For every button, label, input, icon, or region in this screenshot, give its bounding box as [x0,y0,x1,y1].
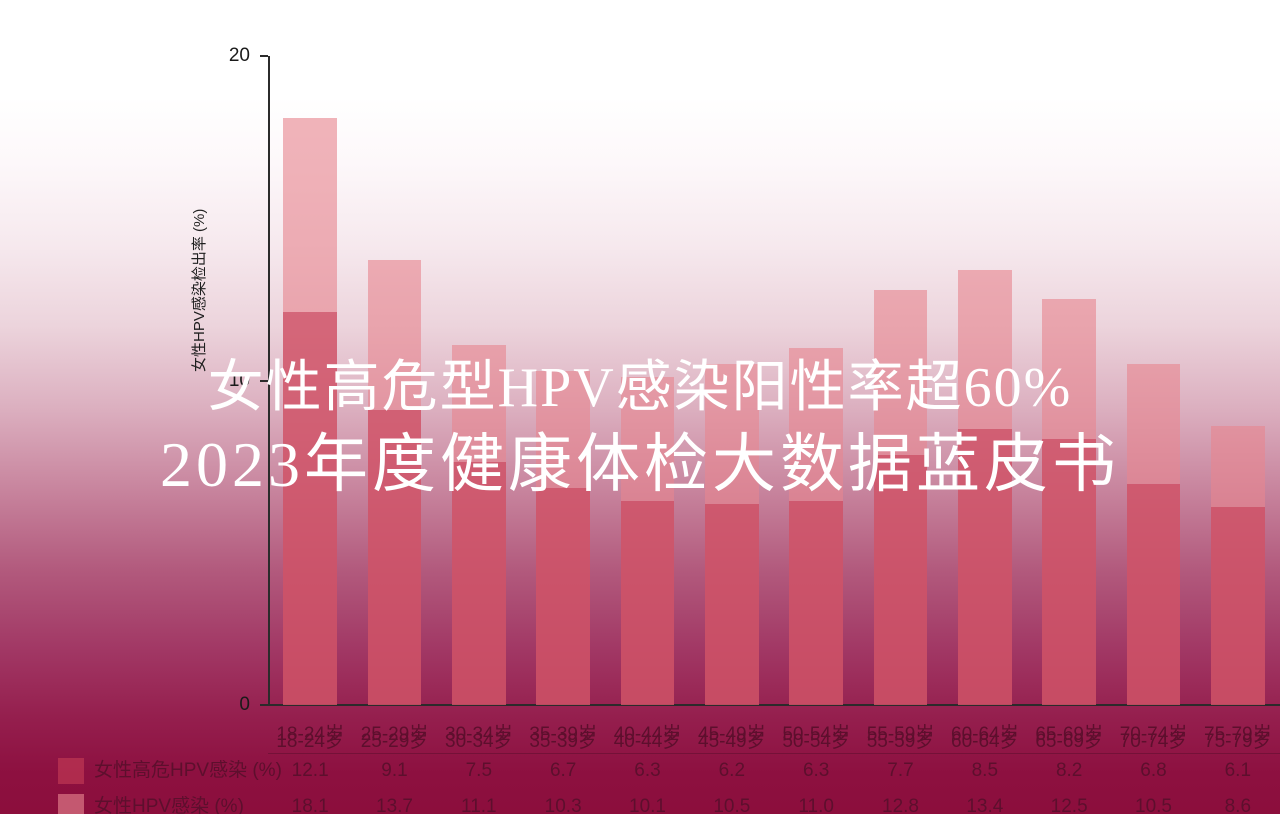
table-cell: 7.5 [466,758,492,784]
table-cell: 10.5 [713,794,750,814]
table-row: 女性高危HPV感染 (%)12.19.17.56.76.36.26.37.78.… [0,758,1280,788]
plot-area [268,56,1280,705]
table-header-row: 18-24岁25-29岁30-34岁35-39岁40-44岁45-49岁50-5… [0,722,1280,752]
table-cell: 10.1 [629,794,666,814]
table-cell: 7.7 [887,758,913,784]
table-cell: 18.1 [292,794,329,814]
table-cell: 8.2 [1056,758,1082,784]
bar-high-risk [1127,484,1181,705]
table-cell: 13.4 [966,794,1003,814]
y-axis-title: 女性HPV感染检出率 (%) [188,209,209,372]
legend-series-label: 女性高危HPV感染 (%) [94,758,282,784]
table-cell: 6.2 [719,758,745,784]
y-axis-tick-label: 20 [198,45,250,67]
table-cell: 12.8 [882,794,919,814]
bar-high-risk [283,312,337,705]
y-axis-tick [260,380,268,382]
table-column-header: 40-44岁 [614,722,682,748]
table-column-header: 30-34岁 [445,722,513,748]
data-table: 18-24岁25-29岁30-34岁35-39岁40-44岁45-49岁50-5… [0,720,1280,814]
table-column-header: 75-79岁 [1204,722,1272,748]
table-column-header: 60-64岁 [951,722,1019,748]
table-cell: 6.3 [803,758,829,784]
table-cell: 6.1 [1225,758,1251,784]
table-cell: 13.7 [376,794,413,814]
table-column-header: 25-29岁 [361,722,429,748]
y-axis-tick-label: 0 [198,694,250,716]
bar-high-risk [874,455,928,705]
bar-high-risk [1211,507,1265,705]
table-cell: 11.1 [461,794,497,814]
y-axis-tick [260,55,268,57]
table-cell: 12.1 [292,758,329,784]
table-header-separator [268,753,1280,754]
y-axis-tick [260,704,268,706]
bar-chart: 女性HPV感染检出率 (%) 01020 18-24岁25-29岁30-34岁3… [0,0,1280,814]
y-axis-tick-label: 10 [198,370,250,392]
table-cell: 8.6 [1225,794,1251,814]
table-cell: 10.3 [545,794,582,814]
legend-series-label: 女性HPV感染 (%) [94,794,244,814]
table-column-header: 18-24岁 [276,722,344,748]
table-cell: 10.5 [1135,794,1172,814]
table-column-header: 55-59岁 [867,722,935,748]
bar-high-risk [1042,439,1096,705]
table-cell: 6.3 [634,758,660,784]
table-row: 女性HPV感染 (%)18.113.711.110.310.110.511.01… [0,794,1280,814]
bar-high-risk [452,462,506,705]
bar-high-risk [621,501,675,705]
table-column-header: 45-49岁 [698,722,766,748]
bar-high-risk [705,504,759,705]
table-cell: 9.1 [381,758,407,784]
table-column-header: 50-54岁 [782,722,850,748]
table-cell: 6.8 [1140,758,1166,784]
table-column-header: 35-39岁 [529,722,597,748]
table-column-header: 70-74岁 [1120,722,1188,748]
bar-high-risk [789,501,843,705]
bar-high-risk [536,488,590,705]
table-cell: 11.0 [798,794,834,814]
legend-swatch [58,758,84,784]
table-cell: 6.7 [550,758,576,784]
table-column-header: 65-69岁 [1035,722,1103,748]
poster-canvas: 女性HPV感染检出率 (%) 01020 18-24岁25-29岁30-34岁3… [0,0,1280,814]
legend-swatch [58,794,84,814]
bar-high-risk [958,429,1012,705]
table-cell: 12.5 [1051,794,1088,814]
table-cell: 8.5 [972,758,998,784]
bar-high-risk [368,410,422,705]
